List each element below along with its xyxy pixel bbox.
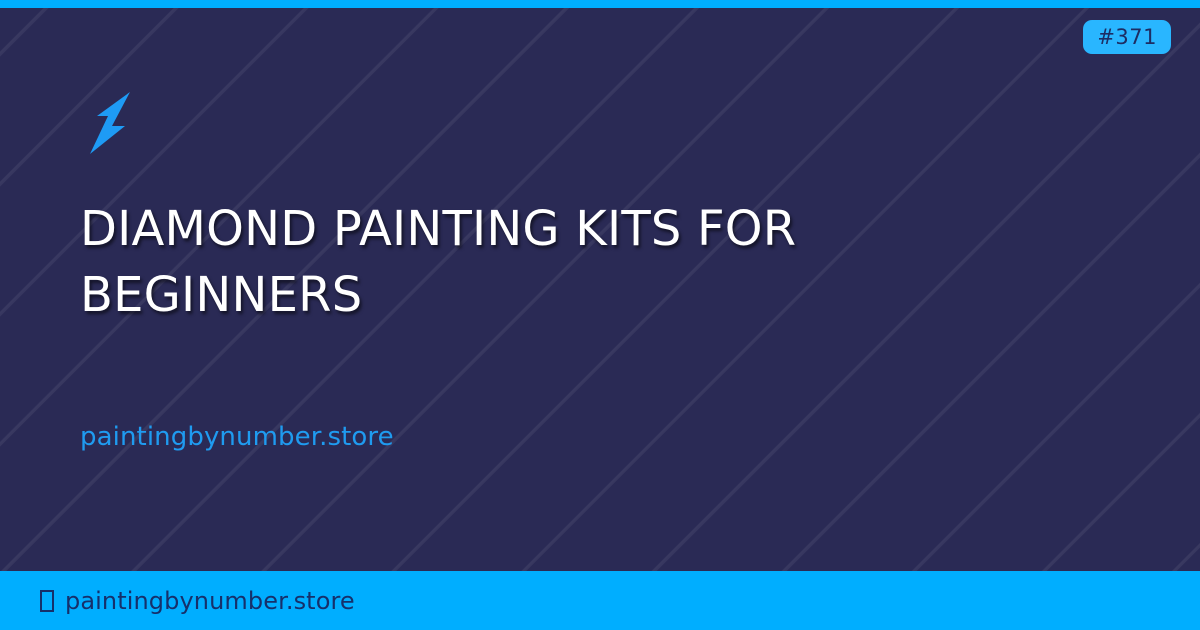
social-share-card: #371 DIAMOND PAINTING KITS FOR BEGINNERS… [0, 0, 1200, 630]
footer-domain-label: paintingbynumber.store [65, 587, 355, 615]
status-badge: #371 [1083, 20, 1171, 54]
page-title: DIAMOND PAINTING KITS FOR BEGINNERS [80, 196, 920, 328]
lightning-bolt-icon [84, 90, 136, 156]
top-accent-bar [0, 0, 1200, 8]
footer-content: paintingbynumber.store [0, 587, 355, 615]
footer-bar: paintingbynumber.store [0, 571, 1200, 630]
missing-glyph-box-icon [40, 590, 54, 612]
domain-label: paintingbynumber.store [80, 420, 394, 454]
